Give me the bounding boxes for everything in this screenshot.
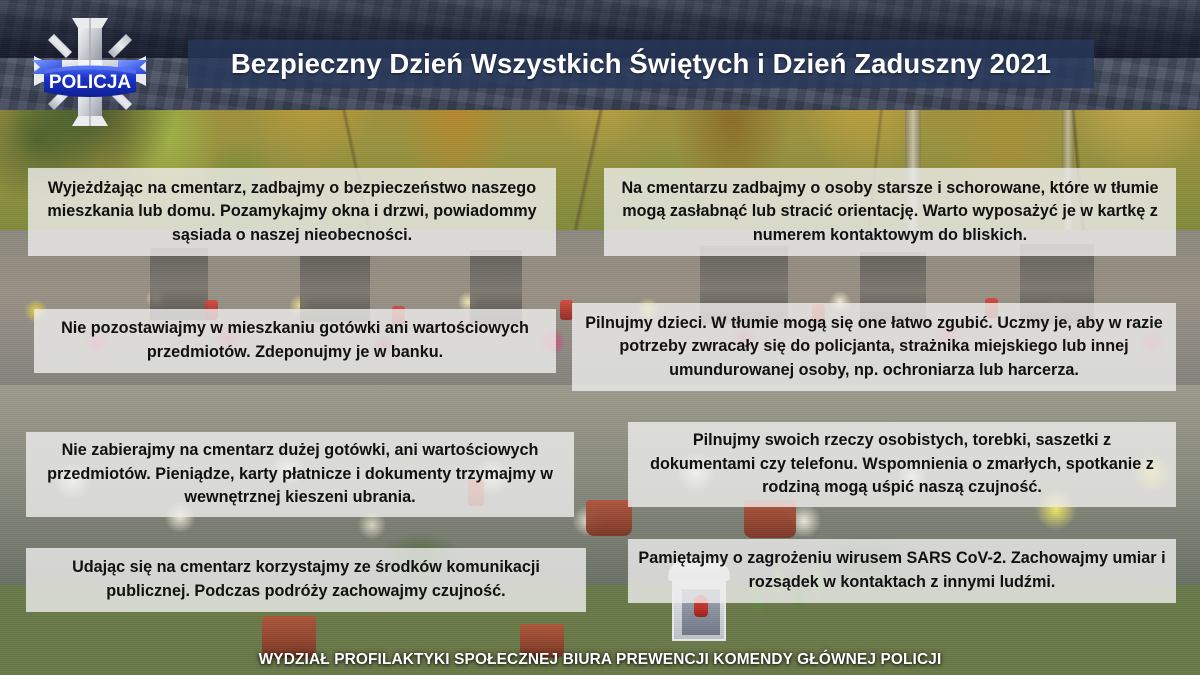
- tip-text: Pilnujmy swoich rzeczy osobistych, toreb…: [638, 429, 1166, 500]
- tip-box-care-for-elderly: Na cmentarzu zadbajmy o osoby starsze i …: [604, 168, 1176, 256]
- tip-box-no-cash-to-cemetery: Nie zabierajmy na cmentarz dużej gotówki…: [26, 432, 574, 517]
- police-logo: POLICJA: [26, 12, 154, 130]
- logo-banner-text: POLICJA: [49, 72, 132, 93]
- tip-box-guard-belongings: Pilnujmy swoich rzeczy osobistych, toreb…: [628, 422, 1176, 507]
- safety-poster: POLICJA Bezpieczny Dzień Wszystkich Świę…: [0, 0, 1200, 675]
- tip-text: Na cmentarzu zadbajmy o osoby starsze i …: [614, 177, 1166, 248]
- tip-box-no-cash-at-home: Nie pozostawiajmy w mieszkaniu gotówki a…: [34, 309, 556, 373]
- tip-box-public-transport: Udając się na cmentarz korzystajmy ze śr…: [26, 548, 586, 612]
- tip-text: Nie zabierajmy na cmentarz dużej gotówki…: [36, 439, 564, 510]
- footer: WYDZIAŁ PROFILAKTYKI SPOŁECZNEJ BIURA PR…: [0, 651, 1200, 669]
- tip-box-watch-children: Pilnujmy dzieci. W tłumie mogą się one ł…: [572, 303, 1176, 391]
- background-flower-pot: [586, 500, 632, 536]
- tip-text: Nie pozostawiajmy w mieszkaniu gotówki a…: [44, 317, 546, 364]
- title-bar: Bezpieczny Dzień Wszystkich Świętych i D…: [188, 40, 1094, 88]
- tip-box-home-security: Wyjeżdżając na cmentarz, zadbajmy o bezp…: [28, 168, 556, 256]
- page-title: Bezpieczny Dzień Wszystkich Świętych i D…: [231, 48, 1051, 80]
- footer-attribution: WYDZIAŁ PROFILAKTYKI SPOŁECZNEJ BIURA PR…: [259, 651, 942, 668]
- tip-text: Wyjeżdżając na cmentarz, zadbajmy o bezp…: [38, 177, 546, 248]
- tip-box-covid-warning: Pamiętajmy o zagrożeniu wirusem SARS CoV…: [628, 539, 1176, 603]
- tip-text: Pamiętajmy o zagrożeniu wirusem SARS CoV…: [638, 547, 1166, 594]
- tip-text: Pilnujmy dzieci. W tłumie mogą się one ł…: [582, 312, 1166, 383]
- tip-text: Udając się na cmentarz korzystajmy ze śr…: [36, 556, 576, 603]
